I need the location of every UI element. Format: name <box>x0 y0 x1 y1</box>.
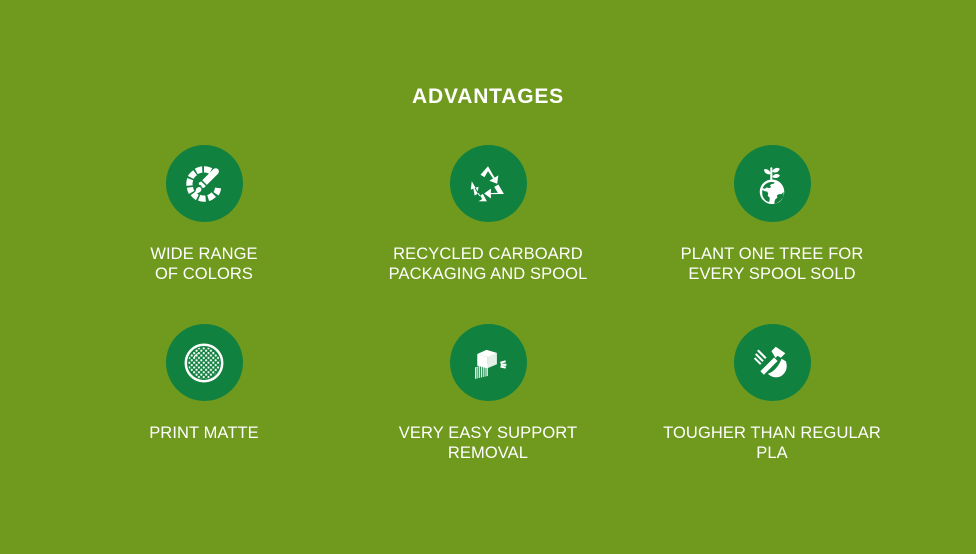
advantage-item-plant-one-tree: PLANT ONE TREE FOR EVERY SPOOL SOLD <box>630 145 914 284</box>
page-title: ADVANTAGES <box>0 84 976 110</box>
advantages-slide: ADVANTAGES <box>0 0 976 554</box>
advantage-label: PLANT ONE TREE FOR EVERY SPOOL SOLD <box>681 245 864 284</box>
matte-sphere-icon <box>181 340 227 386</box>
cube-support-removal-icon <box>465 340 511 386</box>
badge-print-matte <box>166 324 243 401</box>
advantage-label: TOUGHER THAN REGULAR PLA <box>663 424 881 463</box>
badge-plant-one-tree <box>734 145 811 222</box>
badge-recycled-carboard <box>450 145 527 222</box>
advantage-item-support-removal: VERY EASY SUPPORT REMOVAL <box>346 324 630 463</box>
advantage-label: WIDE RANGE OF COLORS <box>150 245 257 284</box>
advantage-item-recycled-carboard: RECYCLED CARBOARD PACKAGING AND SPOOL <box>346 145 630 284</box>
badge-tougher-than-pla <box>734 324 811 401</box>
globe-sprout-icon <box>749 161 795 207</box>
color-palette-brush-icon <box>181 161 227 207</box>
advantage-item-wide-range-of-colors: WIDE RANGE OF COLORS <box>62 145 346 284</box>
badge-support-removal <box>450 324 527 401</box>
advantage-label: VERY EASY SUPPORT REMOVAL <box>399 424 577 463</box>
hammer-leaf-icon <box>749 340 795 386</box>
advantage-item-print-matte: PRINT MATTE <box>62 324 346 463</box>
advantages-grid: WIDE RANGE OF COLORS <box>62 145 914 463</box>
advantage-item-tougher-than-pla: TOUGHER THAN REGULAR PLA <box>630 324 914 463</box>
badge-wide-range-of-colors <box>166 145 243 222</box>
advantage-label: PRINT MATTE <box>149 424 259 444</box>
advantage-label: RECYCLED CARBOARD PACKAGING AND SPOOL <box>389 245 588 284</box>
recycling-icon <box>466 162 510 206</box>
